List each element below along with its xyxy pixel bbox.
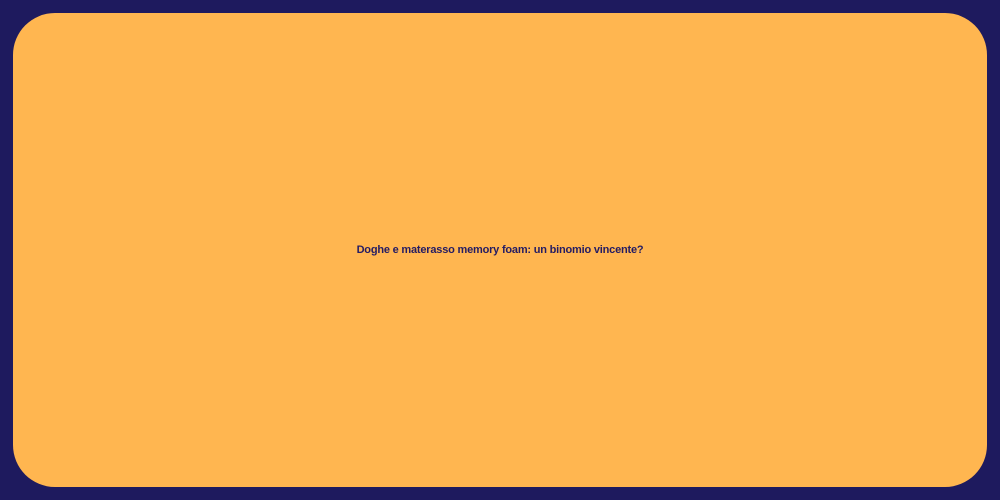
hero-card: Doghe e materasso memory foam: un binomi… <box>13 13 987 487</box>
page-frame: Doghe e materasso memory foam: un binomi… <box>0 0 1000 500</box>
page-title: Doghe e materasso memory foam: un binomi… <box>13 244 987 257</box>
